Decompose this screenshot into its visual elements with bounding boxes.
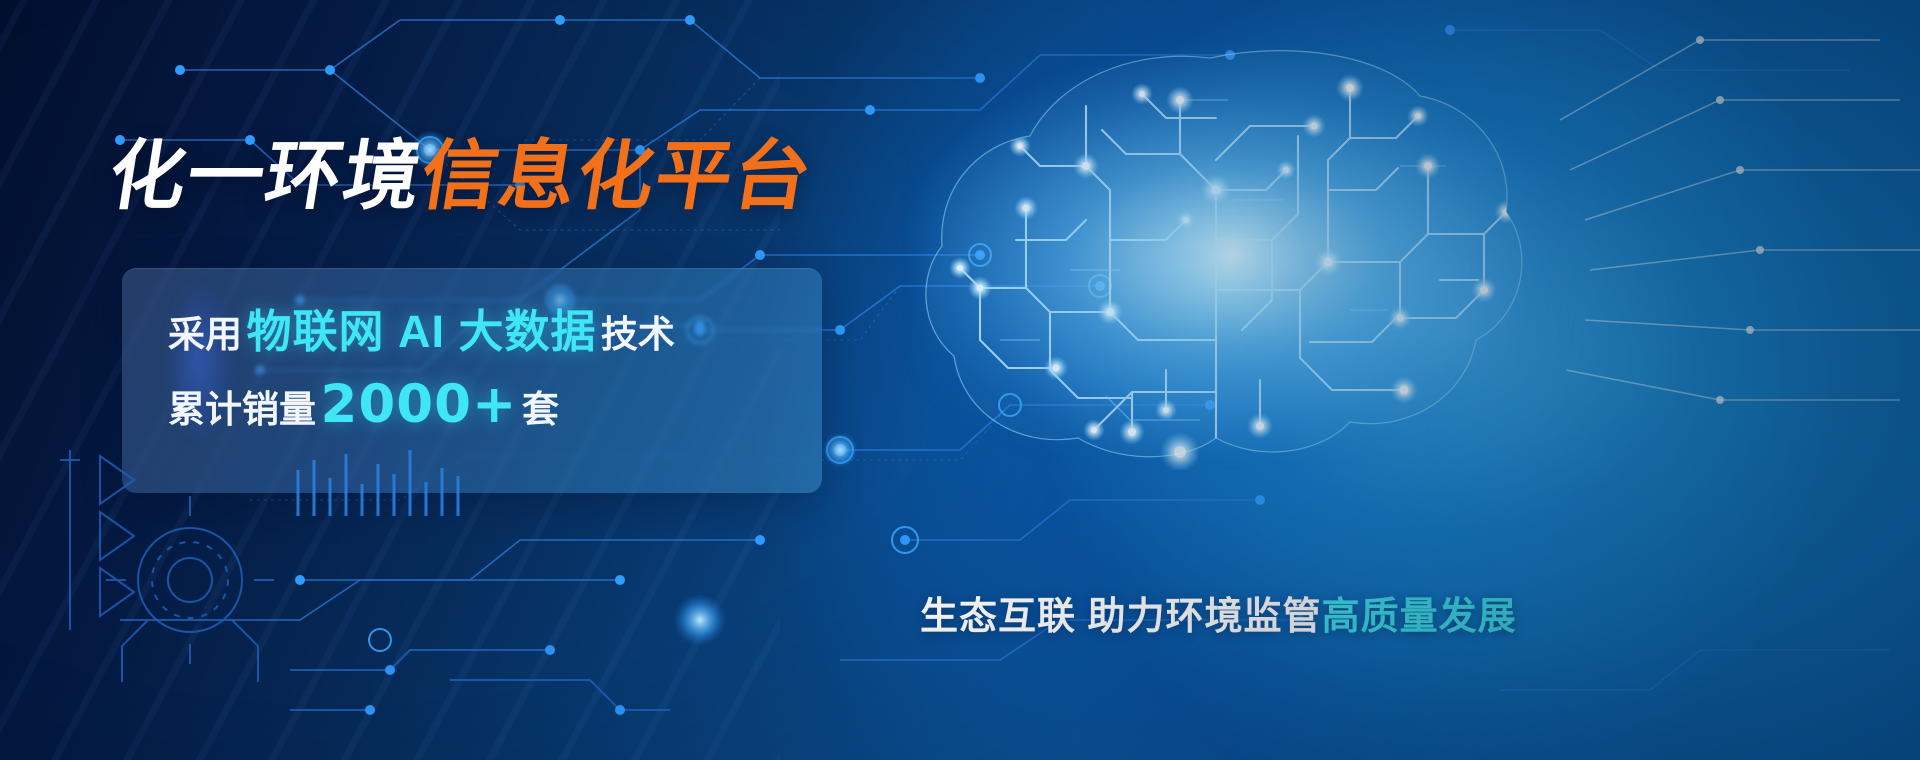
banner-tagline: 生态互联 助力环境监管高质量发展 bbox=[920, 585, 1517, 640]
ai-brain-graphic bbox=[880, 40, 1600, 470]
feature-panel: 采用 物联网 AI 大数据 技术 累计销量 2000+ 套 bbox=[122, 268, 822, 493]
tech-highlight: 物联网 AI 大数据 bbox=[246, 306, 596, 357]
title-orange-part: 信息化平台 bbox=[415, 131, 819, 220]
promo-banner: 化一环境信息化平台 采用 物联网 AI 大数据 技术 累计销量 2000+ 套 … bbox=[0, 0, 1920, 760]
sales-suffix: 套 bbox=[522, 389, 559, 430]
tagline-cyan-part: 高质量发展 bbox=[1322, 596, 1517, 638]
tech-prefix: 采用 bbox=[168, 314, 242, 355]
sales-number: 2000+ bbox=[320, 374, 517, 435]
feature-line-sales: 累计销量 2000+ 套 bbox=[168, 377, 802, 433]
banner-title: 化一环境信息化平台 bbox=[104, 138, 818, 214]
feature-line-technology: 采用 物联网 AI 大数据 技术 bbox=[168, 308, 802, 355]
tagline-white-part: 生态互联 助力环境监管 bbox=[920, 596, 1322, 638]
tech-suffix: 技术 bbox=[601, 314, 675, 355]
title-white-part: 化一环境 bbox=[103, 131, 429, 220]
brain-glow bbox=[920, 70, 1560, 450]
sales-prefix: 累计销量 bbox=[168, 389, 316, 430]
